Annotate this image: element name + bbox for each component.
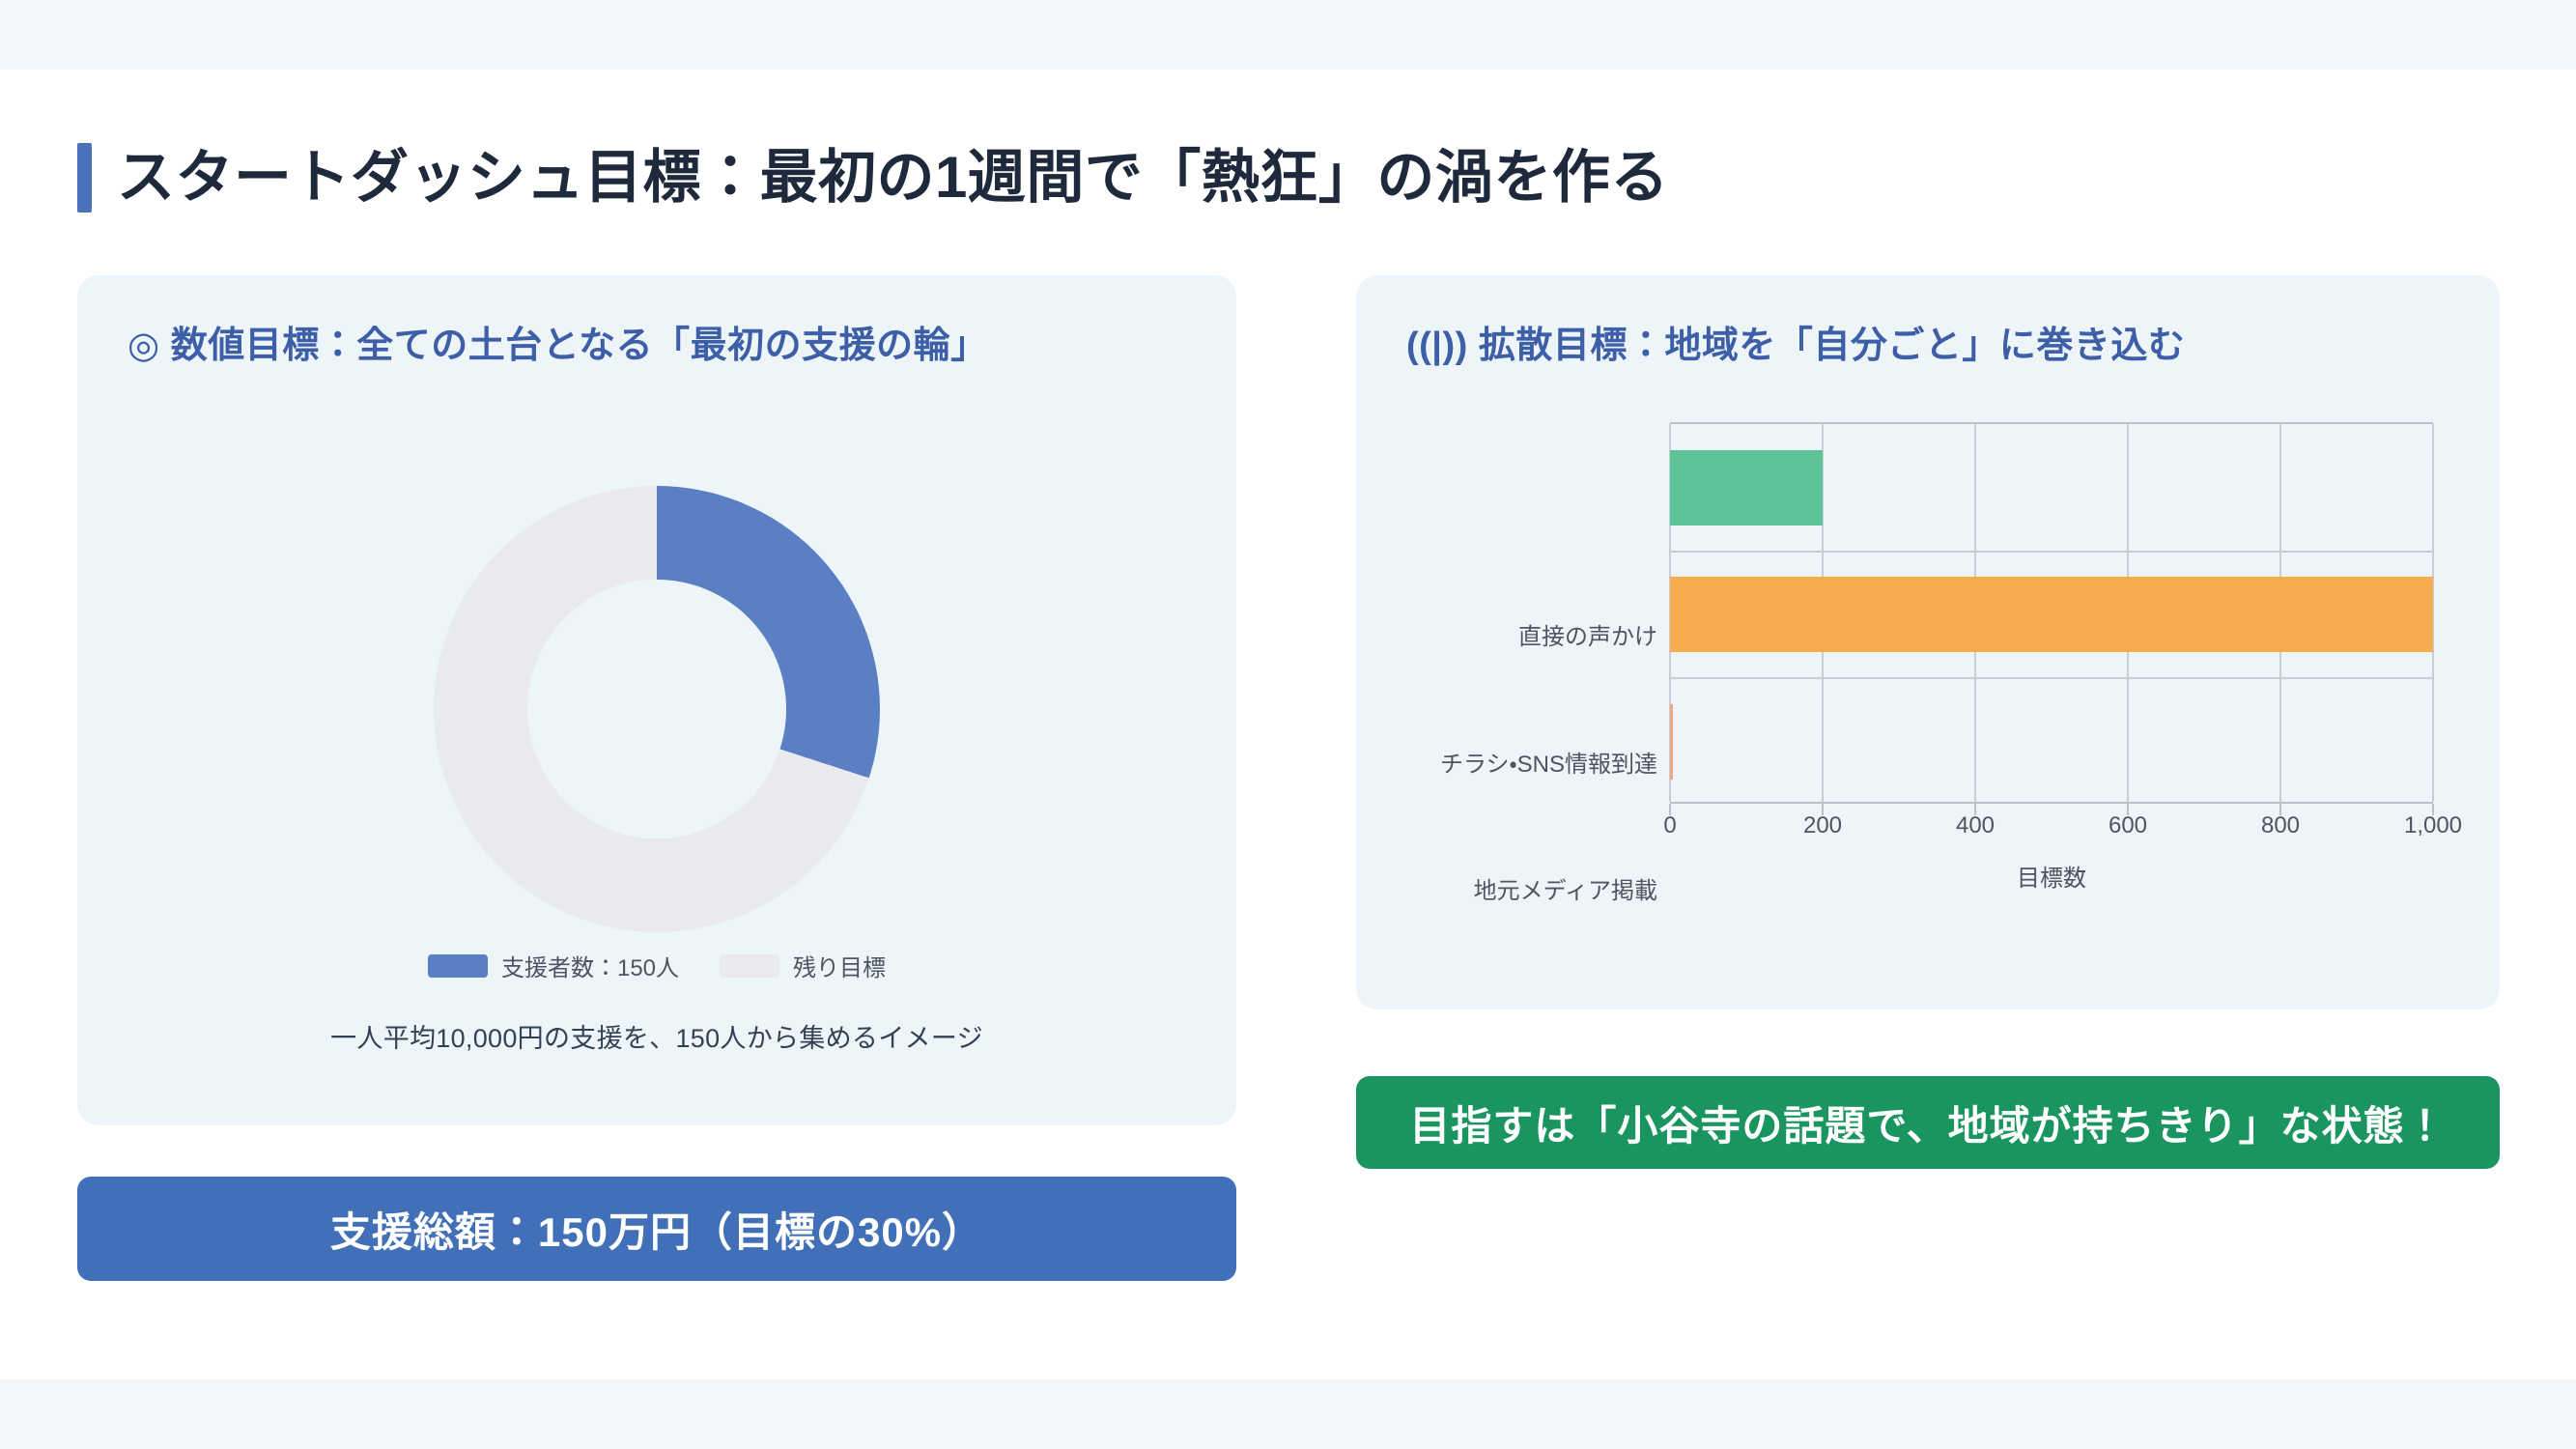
bar-1 [1670, 450, 1823, 526]
goal-state-banner-text: 目指すは「小谷寺の話題で、地域が持ちきり」な状態！ [1409, 1094, 2446, 1152]
donut-caption: 一人平均10,000円の支援を、150人から集めるイメージ [77, 1017, 1236, 1055]
bar-category-label: 地元メディア掲載 [1368, 871, 1657, 905]
donut-legend: 支援者数：150人 残り目標 [77, 949, 1236, 982]
goal-state-banner: 目指すは「小谷寺の話題で、地域が持ちきり」な状態！ [1356, 1076, 2500, 1169]
bar-row [1670, 678, 2433, 806]
target-icon: ◎ [127, 326, 160, 366]
donut-chart [77, 486, 1236, 932]
bar-category-label: チラシ・SNS情報到達 [1368, 745, 1657, 779]
bar-row [1670, 552, 2433, 679]
xtick-label-600: 600 [2109, 812, 2147, 839]
legend-swatch-supporters [428, 954, 488, 978]
title-text: スタートダッシュ目標：最初の1週間で「熱狂」の渦を作る [117, 146, 1669, 210]
page-title: スタートダッシュ目標：最初の1週間で「熱狂」の渦を作る [77, 143, 1669, 213]
xtick-label-800: 800 [2261, 812, 2300, 839]
legend-swatch-remaining [720, 954, 779, 978]
slide-root: スタートダッシュ目標：最初の1週間で「熱狂」の渦を作る ◎ 数値目標：全ての土台… [0, 0, 2576, 1449]
total-funding-banner: 支援総額：150万円（目標の30%） [77, 1177, 1236, 1281]
broadcast-antenna-icon: ((|)) [1406, 326, 1468, 366]
diffusion-goal-card: ((|)) 拡散目標：地域を「自分ごと」に巻き込む 目標数 0200400600… [1356, 275, 2500, 1009]
xtick-label-0: 0 [1663, 812, 1676, 839]
donut-hole [527, 580, 786, 838]
bar-row [1670, 424, 2433, 552]
total-funding-banner-text: 支援総額：150万円（目標の30%） [330, 1200, 983, 1259]
donut-ring [434, 486, 880, 932]
legend-item-supporters: 支援者数：150人 [428, 949, 679, 982]
numeric-goal-card: ◎ 数値目標：全ての土台となる「最初の支援の輪」 支援者数：150人 残り目標 … [77, 275, 1236, 1125]
diffusion-goal-heading: ((|)) 拡散目標：地域を「自分ごと」に巻き込む [1406, 322, 2455, 371]
xtick-label-200: 200 [1803, 812, 1842, 839]
legend-item-remaining: 残り目標 [720, 949, 886, 982]
bar-chart-plot-area [1670, 422, 2433, 804]
bar-2 [1670, 577, 2433, 652]
legend-label-supporters: 支援者数：150人 [501, 949, 679, 982]
bar-category-label: 直接の声かけ [1368, 617, 1657, 651]
numeric-goal-heading: ◎ 数値目標：全ての土台となる「最初の支援の輪」 [127, 322, 1192, 371]
bar-chart: 目標数 02004006008001,000直接の声かけチラシ・SNS情報到達地… [1482, 422, 2438, 924]
legend-label-remaining: 残り目標 [793, 949, 886, 982]
xtick-label-400: 400 [1956, 812, 1995, 839]
xtick-label-1,000: 1,000 [2404, 812, 2462, 839]
bar-3 [1670, 704, 1673, 780]
title-accent-bar [77, 143, 92, 213]
bar-chart-xaxis-title: 目標数 [1670, 859, 2433, 893]
diffusion-goal-heading-text: 拡散目標：地域を「自分ごと」に巻き込む [1479, 326, 2186, 366]
numeric-goal-heading-text: 数値目標：全ての土台となる「最初の支援の輪」 [171, 326, 988, 366]
